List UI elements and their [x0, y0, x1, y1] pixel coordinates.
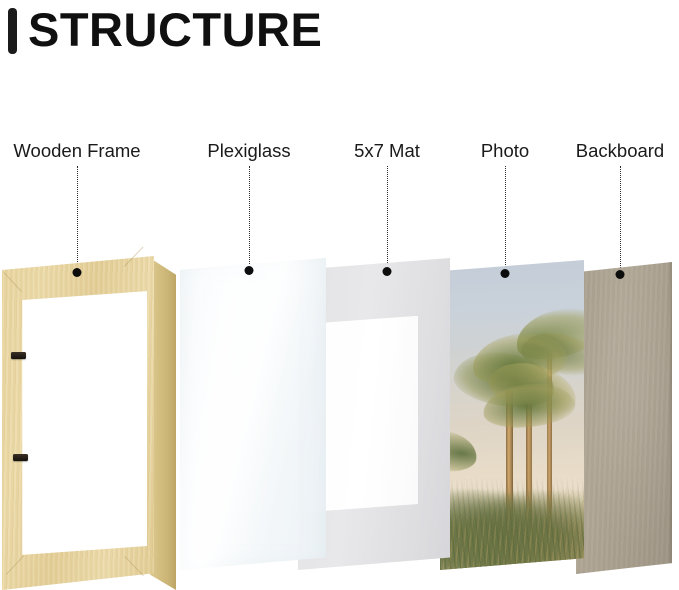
frame-clip-upper: [11, 352, 26, 359]
layer-wooden-frame: [2, 256, 178, 590]
leader-dot-wooden-frame: [73, 268, 82, 277]
frame-clip-lower: [13, 454, 28, 461]
photo-foliage-detail: [440, 477, 584, 570]
leader-line-mat: [387, 166, 389, 269]
leader-line-backboard: [620, 166, 622, 272]
leader-dot-backboard: [616, 270, 625, 279]
leader-line-wooden-frame: [77, 166, 79, 270]
leader-line-plexiglass: [249, 166, 251, 268]
label-backboard: Backboard: [576, 140, 664, 162]
label-mat: 5x7 Mat: [354, 140, 420, 162]
label-wooden-frame: Wooden Frame: [13, 140, 140, 162]
leader-dot-photo: [501, 269, 510, 278]
label-plexiglass: Plexiglass: [207, 140, 290, 162]
infographic-canvas: STRUCTURE: [0, 0, 679, 590]
leader-dot-mat: [383, 267, 392, 276]
layer-backboard: [576, 262, 672, 574]
layer-photo: [440, 260, 584, 570]
frame-opening: [22, 291, 147, 555]
leader-line-photo: [505, 166, 507, 271]
layer-plexiglass: [180, 258, 326, 570]
exploded-view-group: [0, 0, 679, 590]
label-photo: Photo: [481, 140, 529, 162]
leader-dot-plexiglass: [245, 266, 254, 275]
